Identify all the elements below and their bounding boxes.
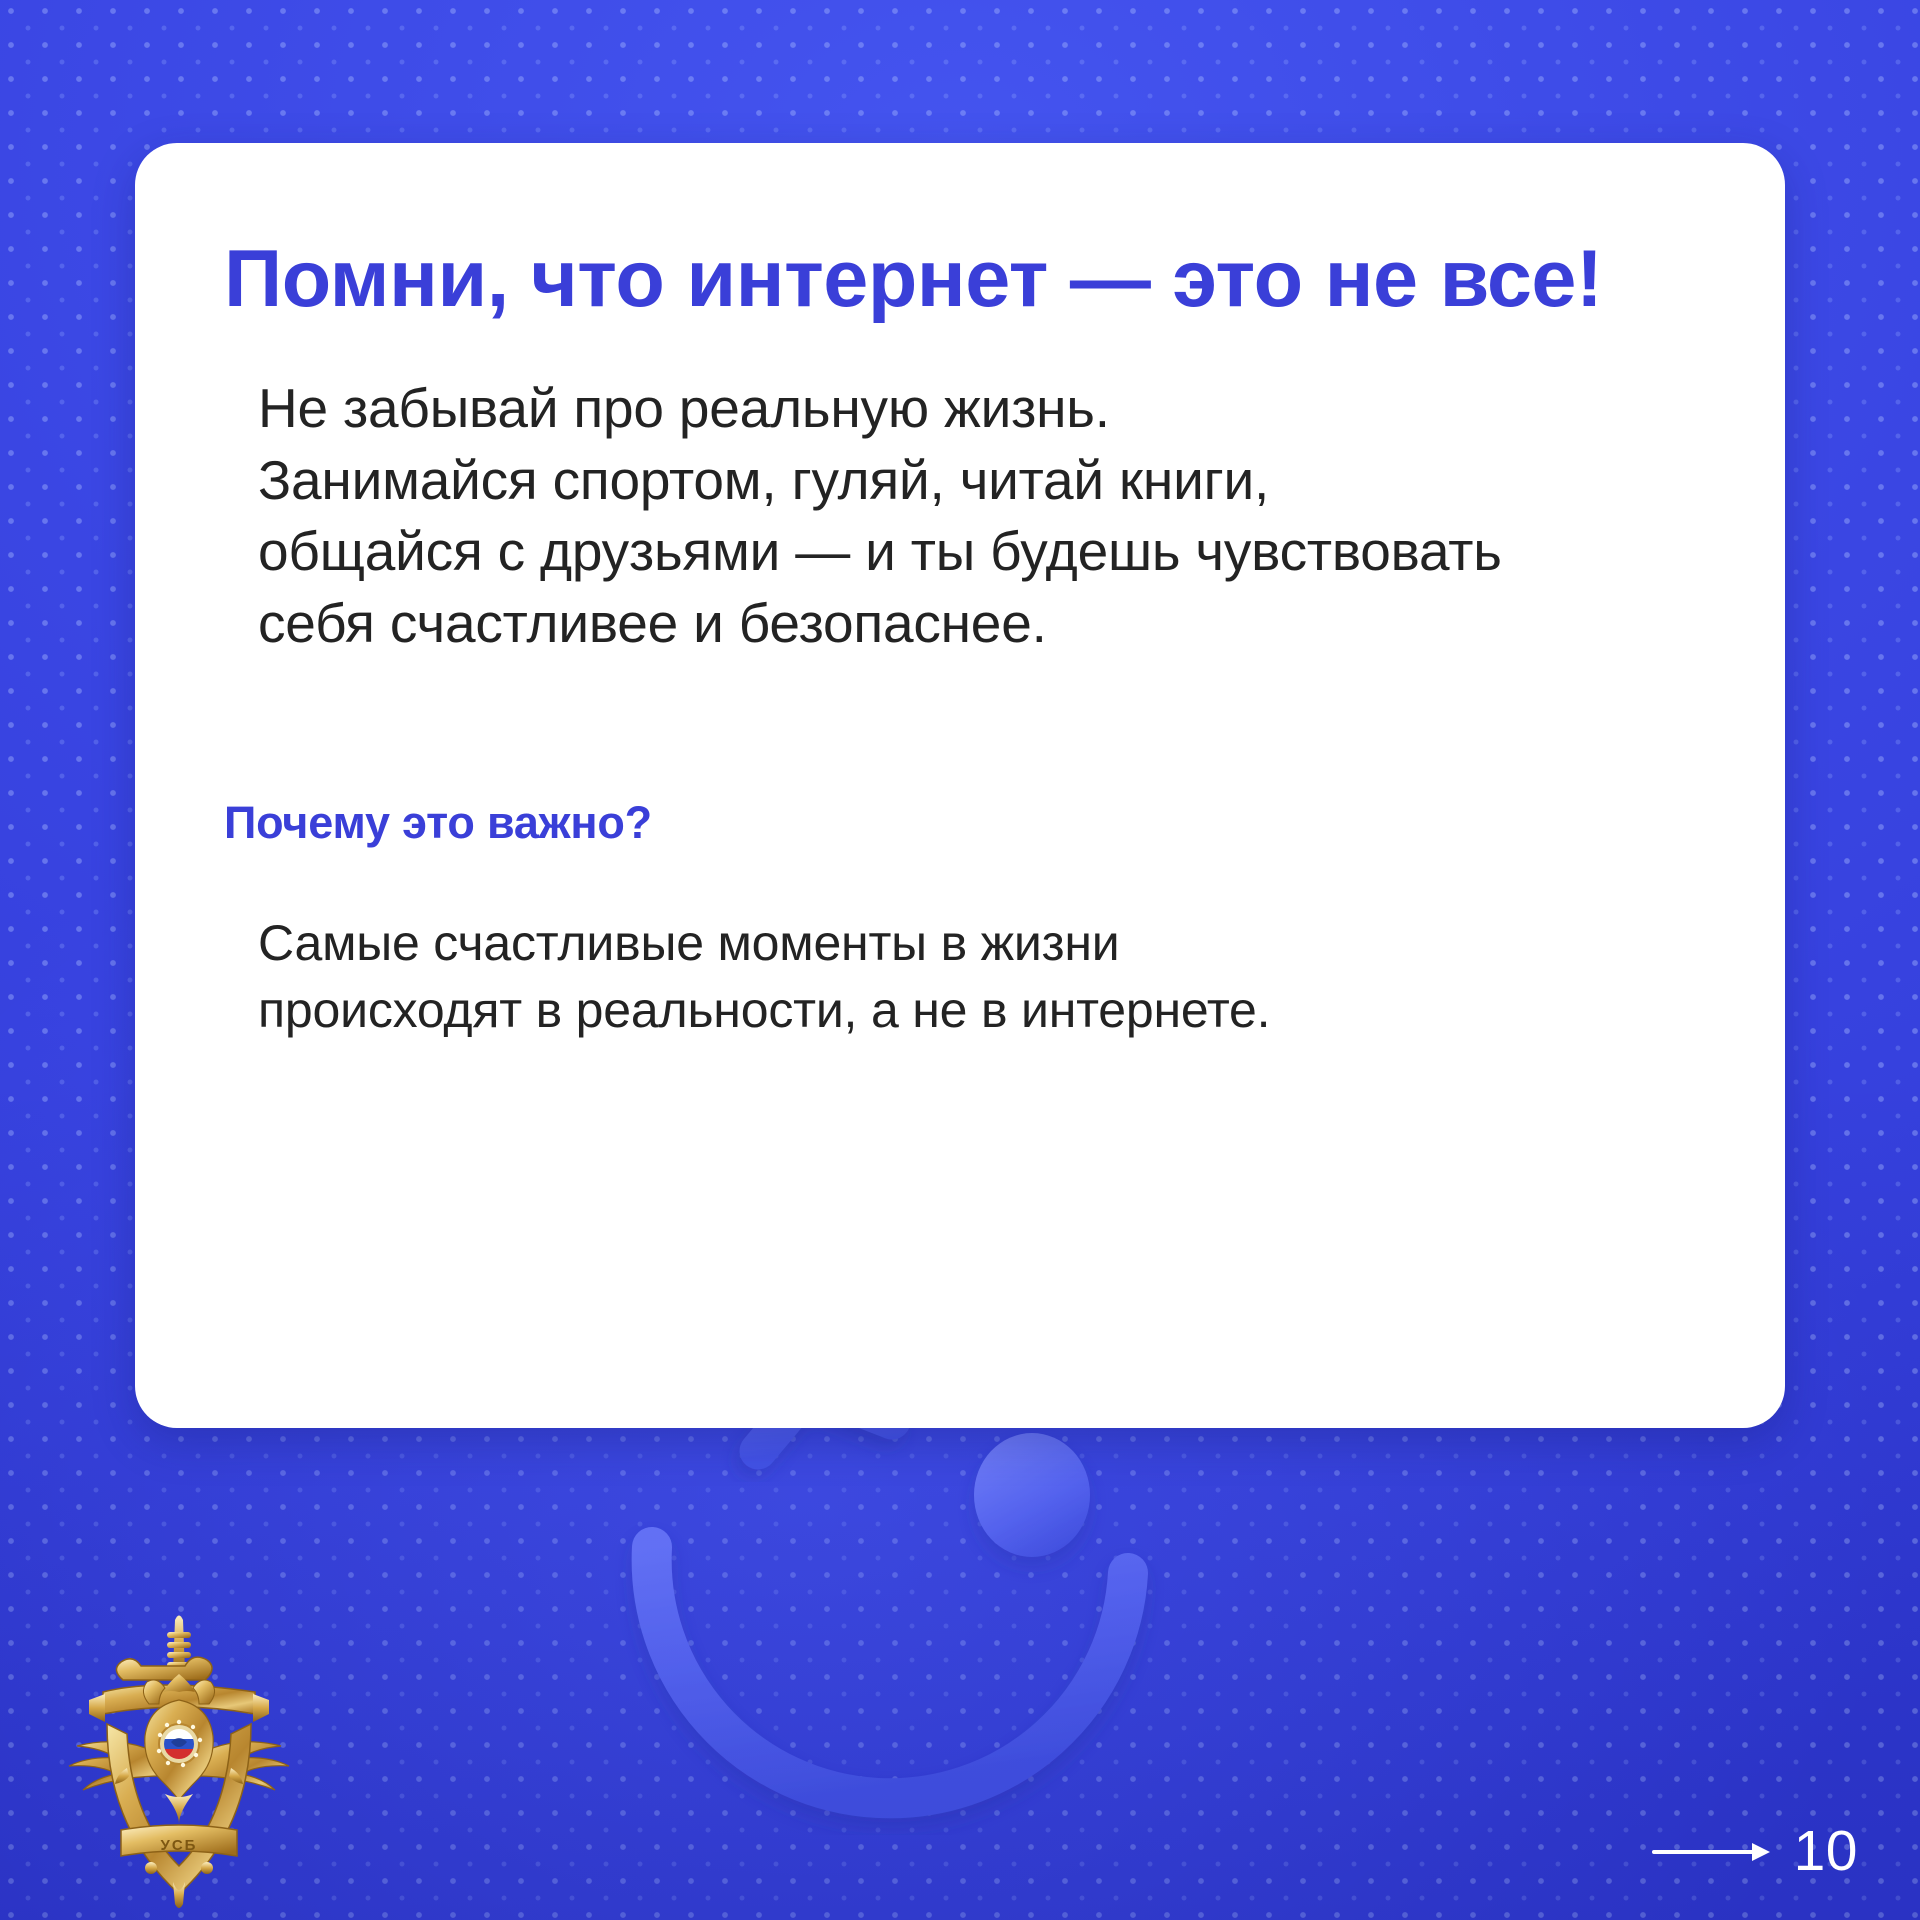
page-marker: 10: [1652, 1823, 1858, 1880]
page-title: Помни, что интернет — это не все!: [224, 239, 1715, 320]
content-card: Помни, что интернет — это не все! Не заб…: [135, 143, 1785, 1428]
answer-paragraph: Самые счастливые моменты в жизни происхо…: [258, 910, 1715, 1044]
body-paragraph: Не забывай про реальную жизнь. Занимайся…: [258, 373, 1715, 659]
fsb-usb-emblem: УСБ: [63, 1608, 295, 1910]
body-line: себя счастливее и безопаснее.: [258, 588, 1715, 660]
content-card-inner: Помни, что интернет — это не все! Не заб…: [135, 143, 1785, 1428]
body-line: Не забывай про реальную жизнь.: [258, 373, 1715, 445]
answer-line: Самые счастливые моменты в жизни: [258, 910, 1715, 977]
body-line: Занимайся спортом, гуляй, читай книги,: [258, 445, 1715, 517]
slide-root: Помни, что интернет — это не все! Не заб…: [0, 0, 1920, 1920]
emblem-banner-text: УСБ: [161, 1837, 198, 1854]
answer-line: происходят в реальности, а не в интернет…: [258, 977, 1715, 1044]
body-line: общайся с друзьями — и ты будешь чувство…: [258, 516, 1715, 588]
section-subtitle: Почему это важно?: [224, 798, 1715, 848]
page-number: 10: [1794, 1823, 1858, 1880]
right-arrow-icon: [1652, 1840, 1772, 1864]
